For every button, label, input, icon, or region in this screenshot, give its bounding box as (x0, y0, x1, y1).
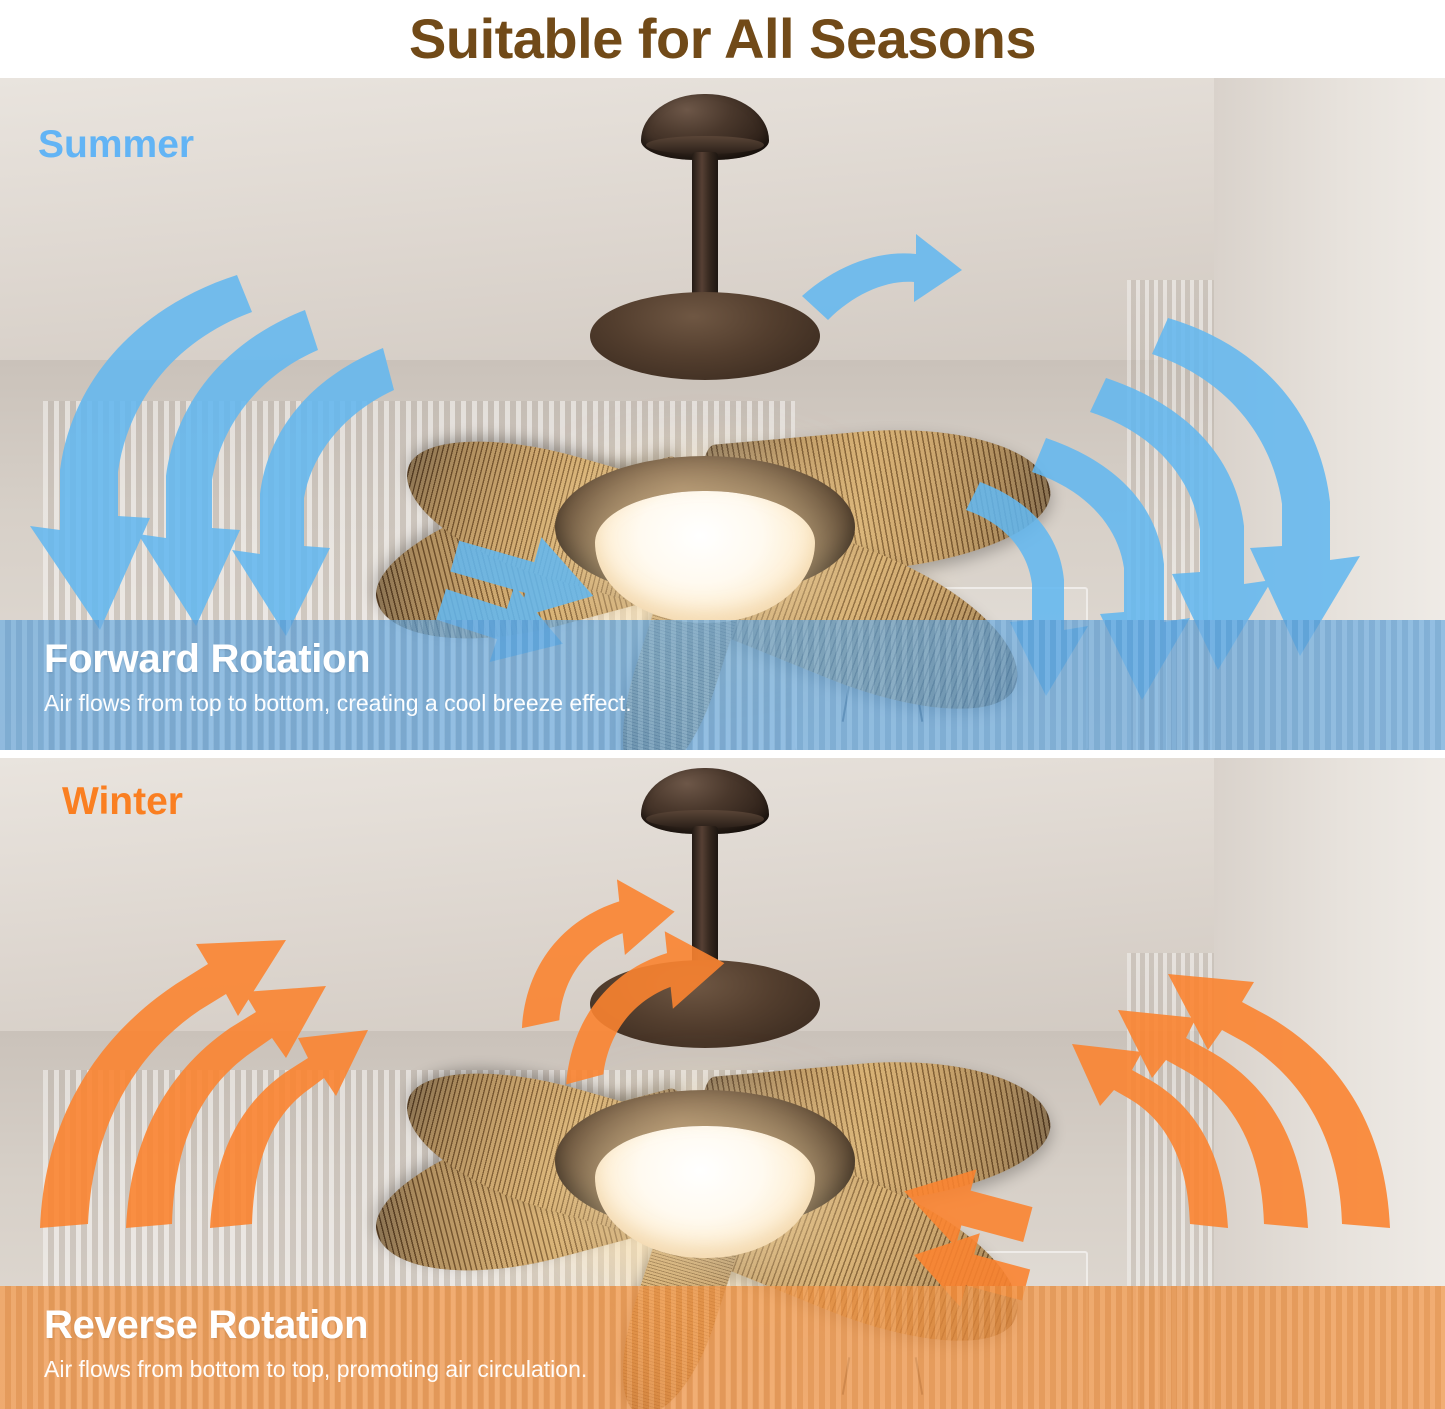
banner-subtitle-reverse: Air flows from bottom to top, promoting … (44, 1355, 1445, 1385)
page-title-bar: Suitable for All Seasons (0, 0, 1445, 78)
winter-panel: Winter Reverse Rotation Air flows from b… (0, 758, 1445, 1409)
panel-divider (0, 750, 1445, 758)
season-label-summer: Summer (38, 125, 194, 164)
banner-title-forward: Forward Rotation (44, 638, 1445, 680)
banner-subtitle-forward: Air flows from top to bottom, creating a… (44, 689, 1445, 719)
banner-title-reverse: Reverse Rotation (44, 1304, 1445, 1346)
ceiling-fan-summer (0, 86, 1445, 706)
fan-hub (590, 292, 820, 380)
infographic-page: Suitable for All Seasons (0, 0, 1445, 1409)
fan-hub (590, 960, 820, 1048)
season-label-winter: Winter (62, 782, 183, 821)
fan-downrod (692, 826, 718, 976)
page-title: Suitable for All Seasons (409, 11, 1036, 67)
fan-downrod (692, 152, 718, 308)
ceiling-fan-winter (0, 758, 1445, 1358)
summer-panel: Summer Forward Rotation Air flows from t… (0, 78, 1445, 750)
winter-banner: Reverse Rotation Air flows from bottom t… (0, 1286, 1445, 1409)
summer-banner: Forward Rotation Air flows from top to b… (0, 620, 1445, 750)
